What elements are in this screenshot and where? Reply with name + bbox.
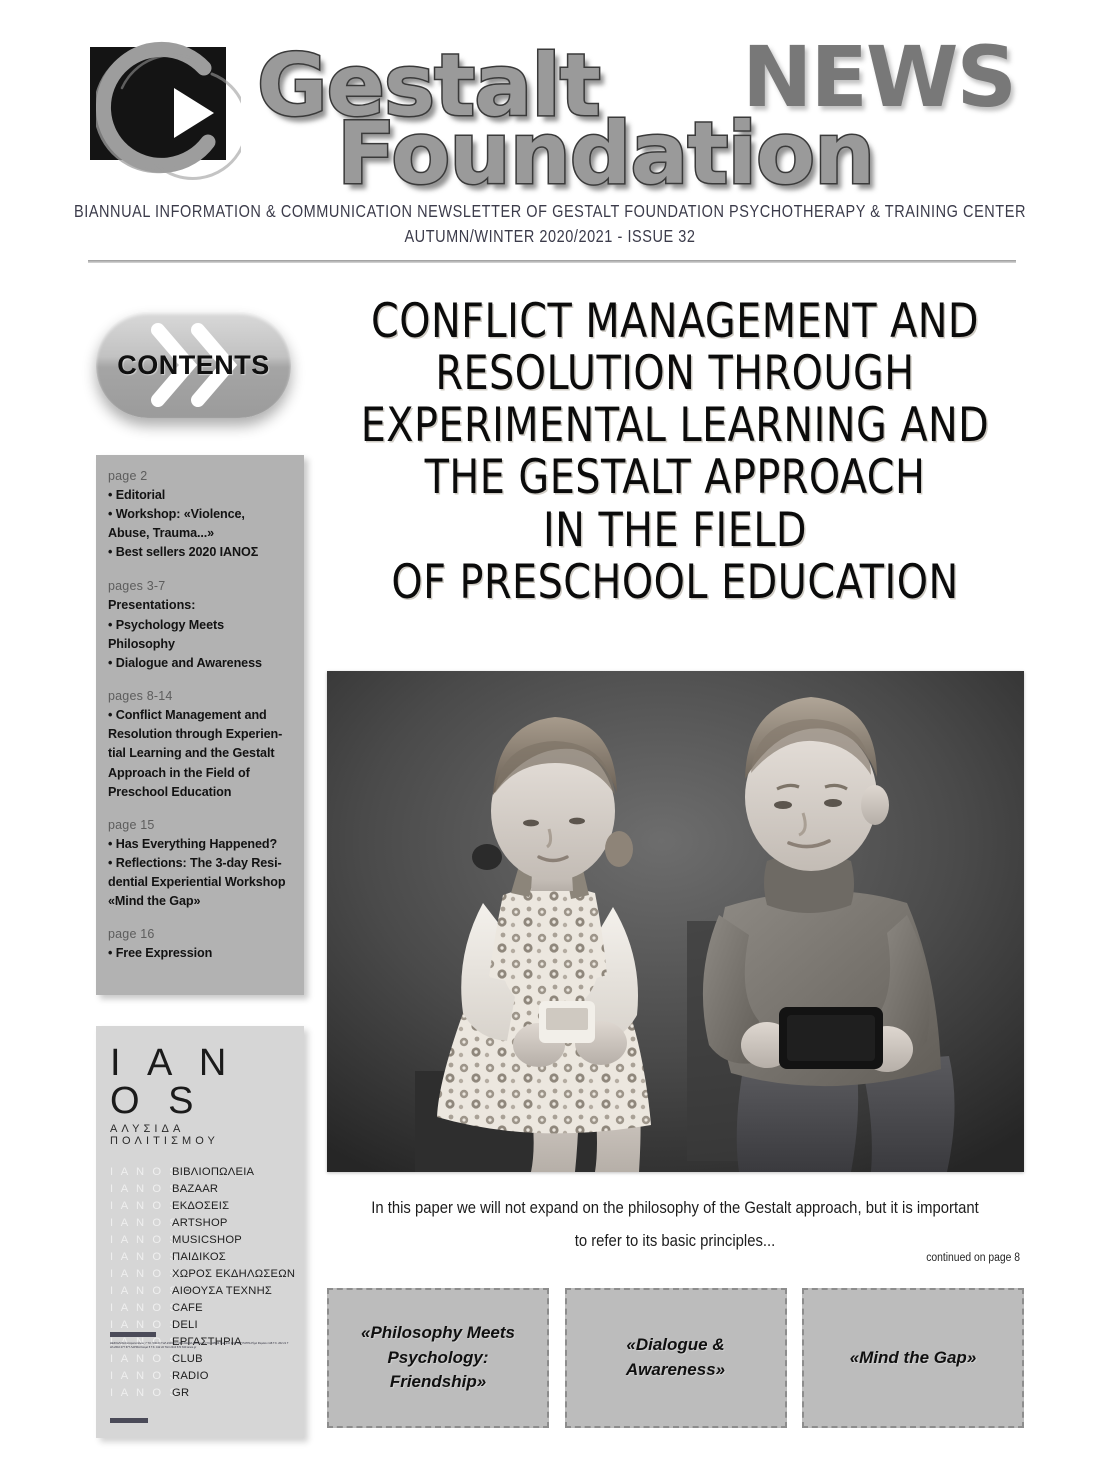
headline-line: CONFLICT MANAGEMENT AND bbox=[351, 296, 1000, 348]
ianos-row-prefix: I A N O S bbox=[110, 1232, 172, 1249]
toc-item[interactable]: • Psychology Meets Philosophy bbox=[108, 616, 292, 654]
logo-black-square bbox=[90, 47, 226, 160]
ianos-row-prefix: I A N O S bbox=[110, 1198, 172, 1215]
toc-group: pages 3-7 Presentations: • Psychology Me… bbox=[108, 579, 292, 674]
ianos-row-name: BAZAAR bbox=[172, 1181, 218, 1198]
contents-button-label: CONTENTS bbox=[96, 312, 291, 418]
teaser-box-philosophy[interactable]: «Philosophy Meets Psychology: Friendship… bbox=[327, 1288, 549, 1428]
ianos-row-name: ARTSHOP bbox=[172, 1215, 228, 1232]
ianos-row-prefix: I A N O S bbox=[110, 1351, 172, 1368]
ianos-row-name: ΕΚΔΟΣΕΙΣ bbox=[172, 1198, 229, 1215]
ianos-service-row: I A N O SΑΙΘΟΥΣΑ ΤΕΧΝΗΣ bbox=[110, 1283, 290, 1300]
ianos-service-row: I A N O SGR bbox=[110, 1385, 290, 1402]
toc-page-label: pages 8-14 bbox=[108, 689, 292, 703]
ianos-advertisement[interactable]: I A N O S ΑΛΥΣΙΔΑ ΠΟΛΙΤΙΣΜΟΥ I A N O SΒΙ… bbox=[96, 1026, 304, 1438]
two-toddlers-with-phones-photo bbox=[327, 671, 1024, 1172]
ianos-row-name: CAFE bbox=[172, 1300, 203, 1317]
toc-page-label: page 16 bbox=[108, 927, 292, 941]
ianos-service-row: I A N O SBAZAAR bbox=[110, 1181, 290, 1198]
toc-item[interactable]: Abuse, Trauma...» bbox=[108, 524, 292, 543]
ianos-service-list: I A N O SΒΙΒΛΙΟΠΩΛΕΙΑI A N O SBAZAARI A … bbox=[110, 1164, 290, 1402]
ianos-service-row: I A N O SΠΑΙΔΙΚΟΣ bbox=[110, 1249, 290, 1266]
toc-item[interactable]: • Editorial bbox=[108, 486, 292, 505]
ianos-row-prefix: I A N O S bbox=[110, 1164, 172, 1181]
ianos-service-row: I A N O SMUSICSHOP bbox=[110, 1232, 290, 1249]
ianos-row-prefix: I A N O S bbox=[110, 1266, 172, 1283]
toc-item[interactable]: • Conflict Management and bbox=[108, 706, 292, 725]
toc-page-label: page 15 bbox=[108, 818, 292, 832]
toc-group: page 16 • Free Expression bbox=[108, 927, 292, 963]
ianos-service-row: I A N O SARTSHOP bbox=[110, 1215, 290, 1232]
headline-line: IN THE FIELD bbox=[351, 505, 1000, 557]
teaser-box-row: «Philosophy Meets Psychology: Friendship… bbox=[327, 1288, 1024, 1428]
ianos-row-prefix: I A N O S bbox=[110, 1368, 172, 1385]
ianos-rule-top bbox=[110, 1332, 156, 1337]
toc-item[interactable]: • Dialogue and Awareness bbox=[108, 654, 292, 673]
toc-item[interactable]: Approach in the Field of bbox=[108, 764, 292, 783]
toc-group: page 15 • Has Everything Happened? • Ref… bbox=[108, 818, 292, 912]
ianos-service-row: I A N O SΧΩΡΟΣ ΕΚΔΗΛΩΣΕΩΝ bbox=[110, 1266, 290, 1283]
toc-item[interactable]: «Mind the Gap» bbox=[108, 892, 292, 911]
article-headline: CONFLICT MANAGEMENT AND RESOLUTION THROU… bbox=[330, 296, 1020, 609]
masthead: Gestalt Foundation NEWS BIANNUAL INFORMA… bbox=[0, 0, 1100, 268]
ianos-service-row: I A N O SΒΙΒΛΙΟΠΩΛΕΙΑ bbox=[110, 1164, 290, 1181]
ianos-row-name: GR bbox=[172, 1385, 189, 1402]
ianos-tagline: ΑΛΥΣΙΔΑ ΠΟΛΙΤΙΣΜΟΥ bbox=[110, 1123, 290, 1147]
table-of-contents-panel: page 2 • Editorial • Workshop: «Violence… bbox=[96, 455, 304, 995]
contents-button[interactable]: CONTENTS bbox=[96, 312, 291, 418]
ianos-service-row: I A N O SCLUB bbox=[110, 1351, 290, 1368]
ianos-row-name: RADIO bbox=[172, 1368, 209, 1385]
teaser-box-dialogue[interactable]: «Dialogue & Awareness» bbox=[565, 1288, 787, 1428]
headline-line: EXPERIMENTAL LEARNING AND bbox=[351, 400, 1000, 452]
teaser-box-mind-the-gap[interactable]: «Mind the Gap» bbox=[802, 1288, 1024, 1428]
toc-page-label: page 2 bbox=[108, 469, 292, 483]
toc-item[interactable]: • Has Everything Happened? bbox=[108, 835, 292, 854]
toc-group-heading: Presentations: bbox=[108, 596, 292, 615]
ianos-row-prefix: I A N O S bbox=[110, 1300, 172, 1317]
toc-item[interactable]: • Workshop: «Violence, bbox=[108, 505, 292, 524]
ianos-row-prefix: I A N O S bbox=[110, 1283, 172, 1300]
ianos-brand: I A N O S bbox=[110, 1044, 290, 1120]
toc-item[interactable]: Preschool Education bbox=[108, 783, 292, 802]
headline-line: THE GESTALT APPROACH bbox=[351, 452, 1000, 504]
headline-line: OF PRESCHOOL EDUCATION bbox=[351, 557, 1000, 609]
toc-item[interactable]: dential Experiential Workshop bbox=[108, 873, 292, 892]
headline-line: RESOLUTION THROUGH bbox=[351, 348, 1000, 400]
ianos-row-name: CLUB bbox=[172, 1351, 203, 1368]
ianos-rule-bottom bbox=[110, 1418, 148, 1423]
ianos-row-prefix: I A N O S bbox=[110, 1181, 172, 1198]
article-caption: In this paper we will not expand on the … bbox=[365, 1192, 986, 1258]
news-word: NEWS bbox=[742, 28, 1015, 126]
ianos-row-prefix: I A N O S bbox=[110, 1385, 172, 1402]
ianos-row-name: ΧΩΡΟΣ ΕΚΔΗΛΩΣΕΩΝ bbox=[172, 1266, 295, 1283]
ianos-row-prefix: I A N O S bbox=[110, 1249, 172, 1266]
toc-group: pages 8-14 • Conflict Management and Res… bbox=[108, 689, 292, 802]
ianos-row-prefix: I A N O S bbox=[110, 1215, 172, 1232]
toc-item[interactable]: Resolution through Experien- bbox=[108, 725, 292, 744]
ianos-row-name: ΒΙΒΛΙΟΠΩΛΕΙΑ bbox=[172, 1164, 254, 1181]
ianos-service-row: I A N O SCAFE bbox=[110, 1300, 290, 1317]
masthead-subtitle-line2: AUTUMN/WINTER 2020/2021 - ISSUE 32 bbox=[0, 228, 1100, 247]
toc-group: page 2 • Editorial • Workshop: «Violence… bbox=[108, 469, 292, 563]
ianos-service-row: I A N O SΕΚΔΟΣΕΙΣ bbox=[110, 1198, 290, 1215]
toc-page-label: pages 3-7 bbox=[108, 579, 292, 593]
toc-item[interactable]: • Reflections: The 3-day Resi- bbox=[108, 854, 292, 873]
ianos-fine-print: ΘΕΣΣΑΛΟΝΙΚΗ Αριστοτέλους 7 Τ.Κ. 546 24 Τ… bbox=[110, 1342, 290, 1350]
masthead-divider bbox=[88, 260, 1016, 263]
continued-on-page-label: continued on page 8 bbox=[399, 1252, 1020, 1264]
ianos-row-name: ΠΑΙΔΙΚΟΣ bbox=[172, 1249, 226, 1266]
ianos-service-row: I A N O SRADIO bbox=[110, 1368, 290, 1385]
ianos-row-name: ΑΙΘΟΥΣΑ ΤΕΧΝΗΣ bbox=[172, 1283, 272, 1300]
ianos-row-name: MUSICSHOP bbox=[172, 1232, 242, 1249]
toc-item[interactable]: tial Learning and the Gestalt bbox=[108, 744, 292, 763]
masthead-subtitle-line1: BIANNUAL INFORMATION & COMMUNICATION NEW… bbox=[0, 203, 1100, 222]
toc-item[interactable]: • Best sellers 2020 ΙΑΝΟΣ bbox=[108, 543, 292, 562]
toc-item[interactable]: • Free Expression bbox=[108, 944, 292, 963]
ianos-row-name: DELI bbox=[172, 1317, 198, 1334]
